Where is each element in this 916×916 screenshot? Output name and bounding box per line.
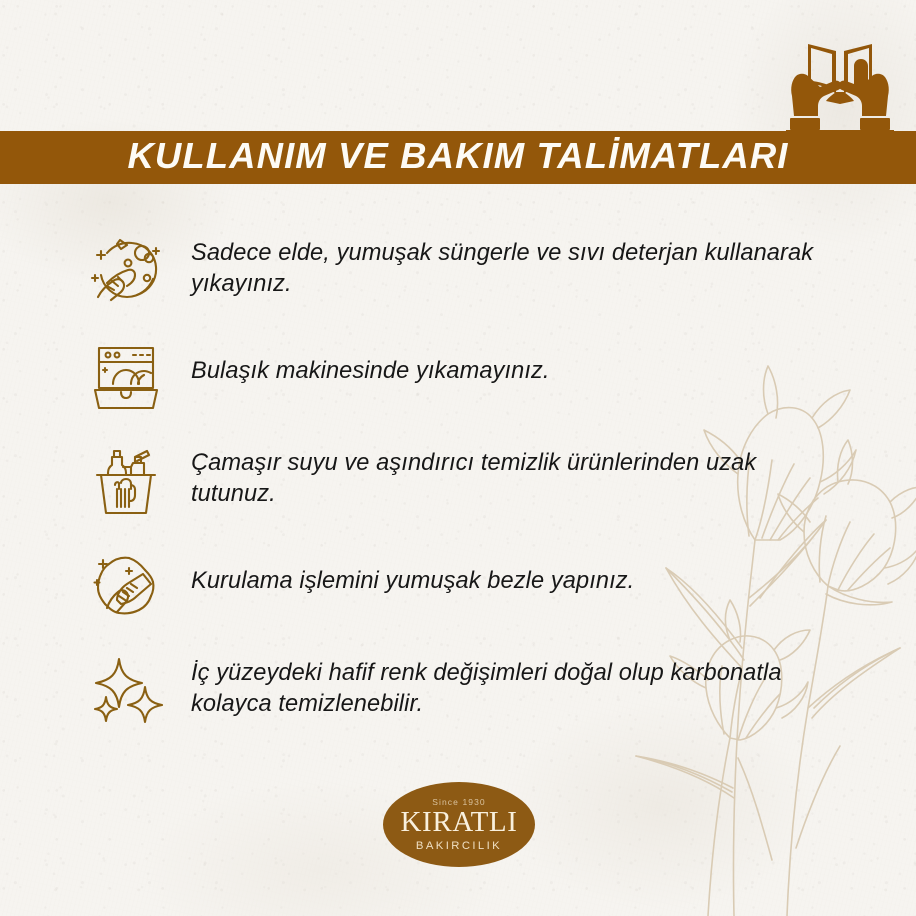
list-item-text: Bulaşık makinesinde yıkamayınız. — [174, 333, 818, 387]
logo-brand-name: KIRATLI — [401, 808, 518, 838]
instructions-list: Sadece elde, yumuşak süngerle ve sıvı de… — [78, 228, 818, 734]
dishwasher-icon — [78, 333, 174, 417]
header-banner: KULLANIM VE BAKIM TALİMATLARI — [0, 131, 916, 184]
list-item-text: Çamaşır suyu ve aşındırıcı temizlik ürün… — [174, 438, 818, 511]
list-item-text: İç yüzeydeki hafif renk değişimleri doğa… — [174, 648, 818, 721]
logo-since-text: Since 1930 — [432, 797, 486, 807]
list-item-text: Sadece elde, yumuşak süngerle ve sıvı de… — [174, 228, 818, 301]
logo-subtitle: BAKIRCILIK — [416, 840, 502, 852]
list-item: Bulaşık makinesinde yıkamayınız. — [78, 333, 818, 419]
list-item: Sadece elde, yumuşak süngerle ve sıvı de… — [78, 228, 818, 314]
page-title: KULLANIM VE BAKIM TALİMATLARI — [127, 138, 788, 175]
cleaning-bucket-supplies-icon — [78, 438, 174, 522]
hand-wiping-cloth-icon — [78, 543, 174, 627]
logo-text-group: Since 1930 KIRATLI BAKIRCILIK — [383, 782, 535, 867]
list-item-text: Kurulama işlemini yumuşak bezle yapınız. — [174, 543, 818, 597]
poster-canvas: KULLANIM VE BAKIM TALİMATLARI — [0, 0, 916, 916]
brand-logo: Since 1930 KIRATLI BAKIRCILIK — [383, 782, 535, 867]
list-item: Kurulama işlemini yumuşak bezle yapınız. — [78, 543, 818, 629]
list-item: İç yüzeydeki hafif renk değişimleri doğa… — [78, 648, 818, 734]
hands-holding-open-book-icon — [786, 32, 894, 136]
sparkles-icon — [78, 648, 174, 732]
list-item: Çamaşır suyu ve aşındırıcı temizlik ürün… — [78, 438, 818, 524]
hand-washing-sponge-icon — [78, 228, 174, 312]
